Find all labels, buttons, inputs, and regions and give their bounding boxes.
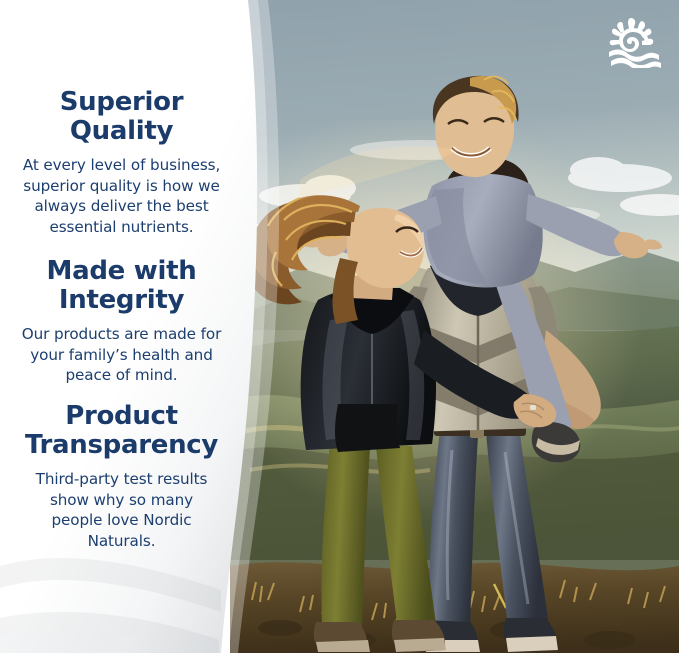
- benefit-heading-line1: Product: [65, 401, 178, 431]
- benefit-heading-line2: Transparency: [25, 430, 218, 460]
- benefit-body: At every level of business, superior qua…: [0, 155, 243, 237]
- benefit-heading-line1: Superior: [60, 87, 184, 117]
- benefit-heading: Made with Integrity: [0, 257, 243, 315]
- benefit-heading-line2: Integrity: [59, 285, 184, 315]
- marketing-banner: Superior Quality At every level of busin…: [0, 0, 679, 653]
- benefit-heading-line2: Quality: [70, 116, 173, 146]
- benefit-block-product-transparency: Product Transparency Third-party test re…: [0, 402, 243, 551]
- benefit-heading: Superior Quality: [0, 88, 243, 146]
- benefit-block-superior-quality: Superior Quality At every level of busin…: [0, 88, 243, 237]
- benefit-block-made-with-integrity: Made with Integrity Our products are mad…: [0, 257, 243, 386]
- benefit-body: Our products are made for your family’s …: [0, 324, 243, 386]
- sun-wave-logo: [605, 16, 661, 68]
- benefits-text-column: Superior Quality At every level of busin…: [0, 0, 243, 653]
- benefit-heading-line1: Made with: [47, 256, 197, 286]
- benefit-heading: Product Transparency: [0, 402, 243, 460]
- benefit-body: Third-party test results show why so man…: [0, 469, 243, 551]
